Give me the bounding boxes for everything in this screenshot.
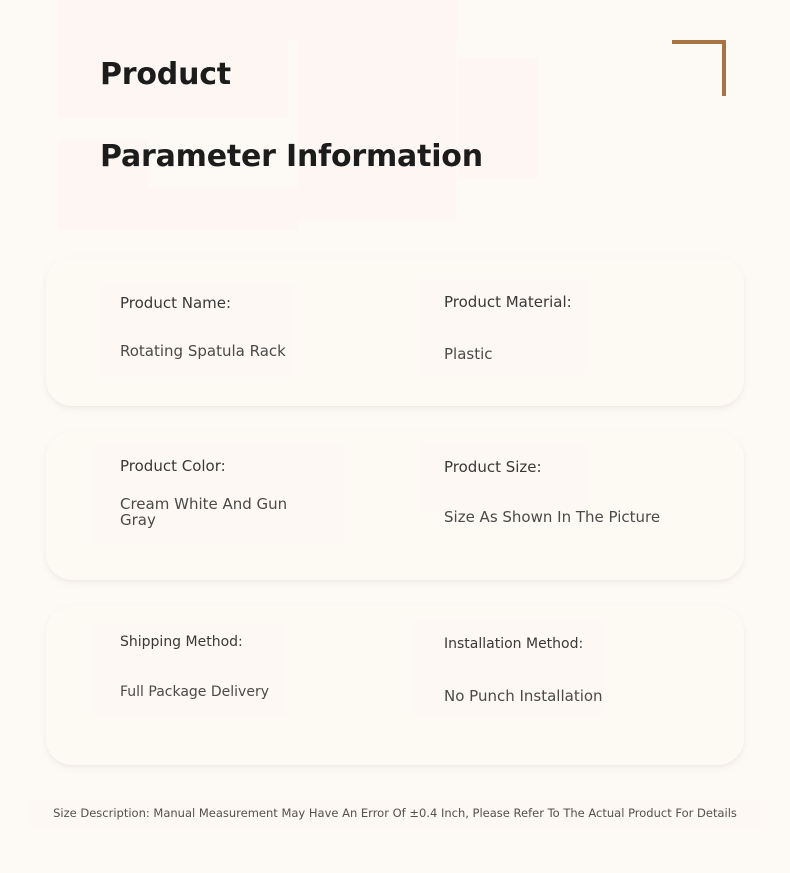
background-watermark-block bbox=[148, 188, 298, 230]
parameter-field: Installation Method: No Punch Installati… bbox=[444, 606, 724, 765]
field-value: Cream White And Gun Gray bbox=[120, 497, 295, 529]
parameter-field: Shipping Method: Full Package Delivery bbox=[120, 606, 420, 765]
parameter-card-list: Product Name: Rotating Spatula Rack Prod… bbox=[46, 257, 744, 765]
field-value: Plastic bbox=[444, 345, 493, 363]
field-value: Rotating Spatula Rack bbox=[120, 342, 286, 360]
background-watermark-block bbox=[288, 0, 458, 40]
page-title-line-2: Parameter Information bbox=[100, 142, 660, 172]
size-disclaimer-note: Size Description: Manual Measurement May… bbox=[0, 806, 790, 820]
page-title-line-1: Product bbox=[100, 60, 660, 90]
product-parameter-page: Product Parameter Information Product Na… bbox=[0, 0, 790, 873]
field-label: Product Color: bbox=[120, 457, 226, 475]
field-label: Shipping Method: bbox=[120, 634, 243, 650]
field-label: Product Size: bbox=[444, 458, 542, 476]
field-label: Installation Method: bbox=[444, 636, 583, 652]
parameter-field: Product Size: Size As Shown In The Pictu… bbox=[444, 432, 724, 580]
parameter-card: Product Name: Rotating Spatula Rack Prod… bbox=[46, 257, 744, 406]
parameter-card: Product Color: Cream White And Gun Gray … bbox=[46, 432, 744, 580]
parameter-card: Shipping Method: Full Package Delivery I… bbox=[46, 606, 744, 765]
parameter-row: Product Color: Cream White And Gun Gray … bbox=[46, 432, 744, 580]
parameter-row: Shipping Method: Full Package Delivery I… bbox=[46, 606, 744, 765]
page-title: Product Parameter Information bbox=[100, 60, 660, 172]
field-label: Product Material: bbox=[444, 293, 572, 311]
parameter-field: Product Material: Plastic bbox=[444, 257, 724, 406]
parameter-field: Product Color: Cream White And Gun Gray bbox=[120, 432, 420, 580]
corner-bracket-icon bbox=[672, 40, 726, 96]
field-value: No Punch Installation bbox=[444, 687, 603, 705]
parameter-field: Product Name: Rotating Spatula Rack bbox=[120, 257, 420, 406]
field-value: Full Package Delivery bbox=[120, 684, 269, 700]
parameter-row: Product Name: Rotating Spatula Rack Prod… bbox=[46, 257, 744, 406]
field-label: Product Name: bbox=[120, 294, 231, 312]
field-value: Size As Shown In The Picture bbox=[444, 508, 660, 526]
